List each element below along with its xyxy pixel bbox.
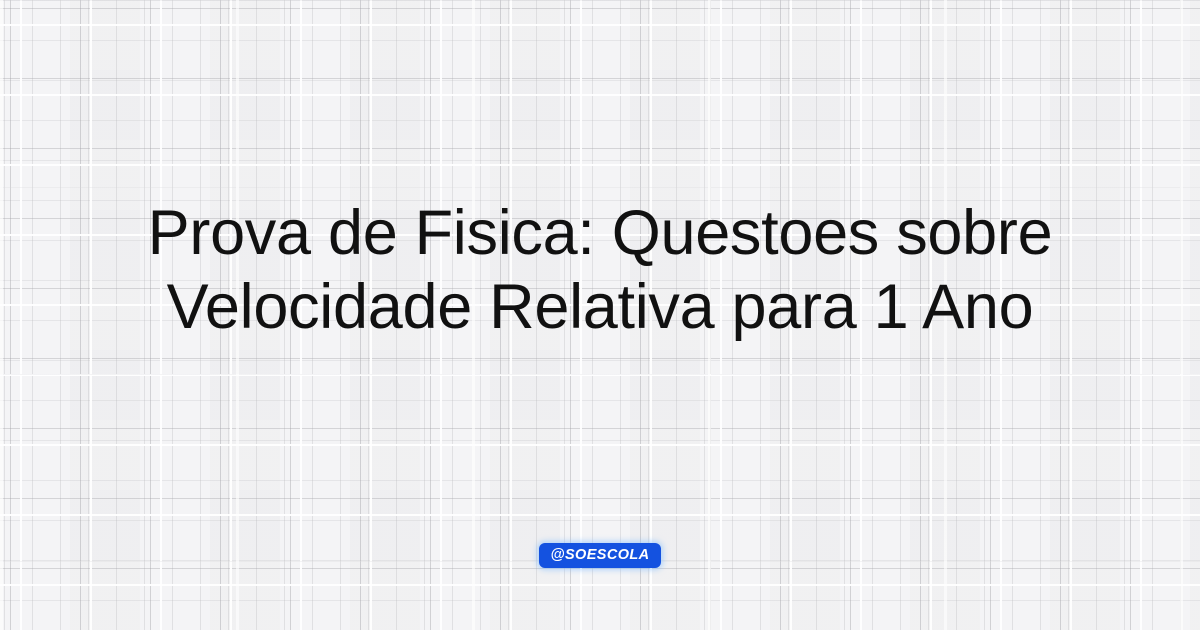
page-title-line-1: Prova de Fisica: Questoes sobre [40,196,1160,270]
page-title: Prova de Fisica: Questoes sobre Velocida… [0,196,1200,344]
watermark-badge: @SOESCOLA [539,543,660,568]
watermark-container: @SOESCOLA [0,543,1200,568]
title-card: Prova de Fisica: Questoes sobre Velocida… [0,0,1200,630]
page-title-line-2: Velocidade Relativa para 1 Ano [40,270,1160,344]
